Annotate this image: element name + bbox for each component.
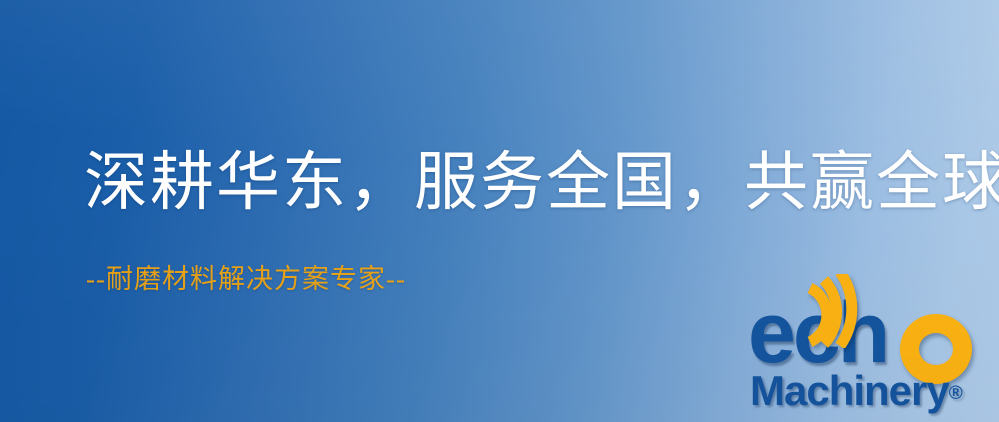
registered-trademark-icon: ®: [949, 383, 963, 404]
banner-headline: 深耕华东，服务全国，共赢全球: [84, 151, 999, 215]
banner-subtitle: --耐磨材料解决方案专家--: [86, 266, 406, 293]
hero-banner: 深耕华东，服务全国，共赢全球 --耐磨材料解决方案专家-- ech Machin…: [0, 0, 999, 422]
company-logo[interactable]: ech Machinery®: [748, 296, 999, 422]
logo-subword-text: Machinery®: [750, 370, 963, 412]
wifi-signal-arcs-icon: [794, 274, 880, 348]
logo-subword-label: Machinery: [750, 367, 949, 414]
